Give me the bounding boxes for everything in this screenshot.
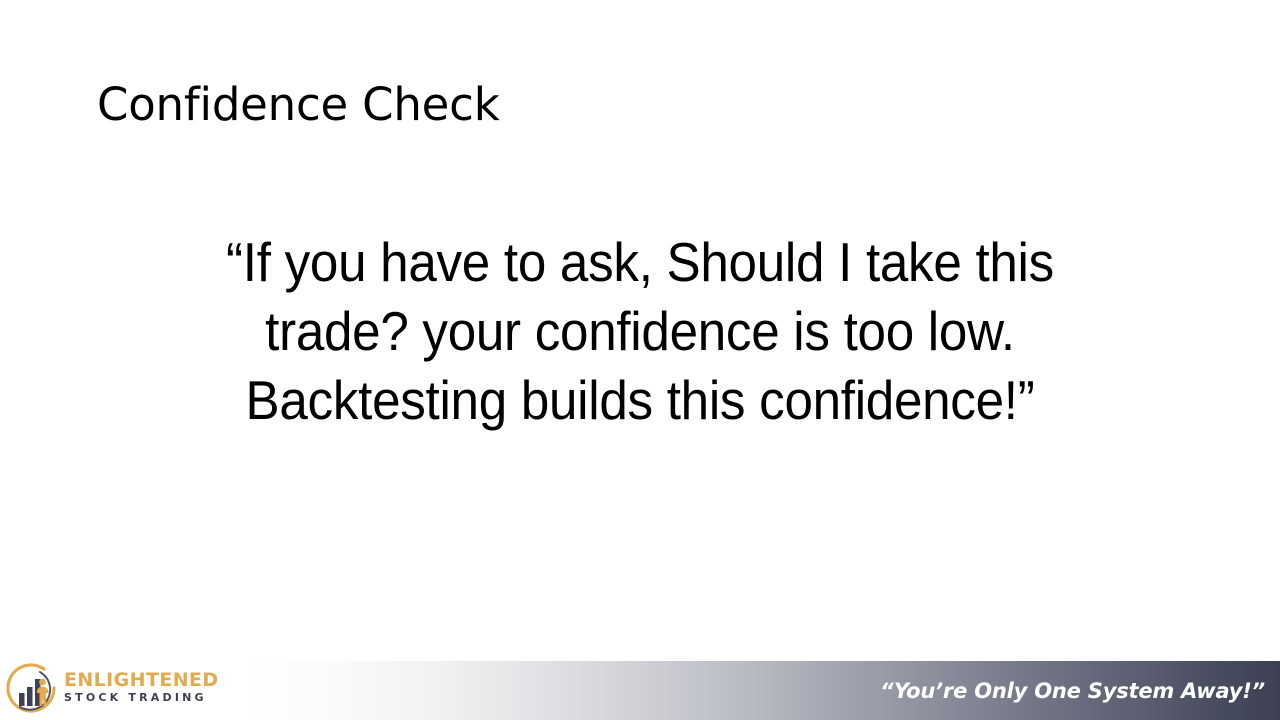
bar-chart-person-circle-logo-icon — [6, 663, 60, 717]
footer-tagline: “You’re Only One System Away!” — [880, 661, 1265, 720]
logo-wordmark: ENLIGHTENED STOCK TRADING — [64, 670, 242, 705]
logo-name-secondary: STOCK TRADING — [64, 691, 242, 705]
page-title: Confidence Check — [97, 74, 1177, 136]
quote-line: trade? your confidence is too low. — [175, 297, 1105, 366]
brand-logo: ENLIGHTENED STOCK TRADING — [4, 660, 244, 720]
footer-band: “You’re Only One System Away!” — [245, 661, 1280, 720]
logo-name-primary: ENLIGHTENED — [64, 670, 242, 691]
quote-block: “If you have to ask, Should I take this … — [140, 228, 1140, 435]
presentation-slide: Confidence Check “If you have to ask, Sh… — [0, 0, 1280, 720]
quote-line: Backtesting builds this confidence!” — [175, 366, 1105, 435]
quote-line: “If you have to ask, Should I take this — [175, 228, 1105, 297]
